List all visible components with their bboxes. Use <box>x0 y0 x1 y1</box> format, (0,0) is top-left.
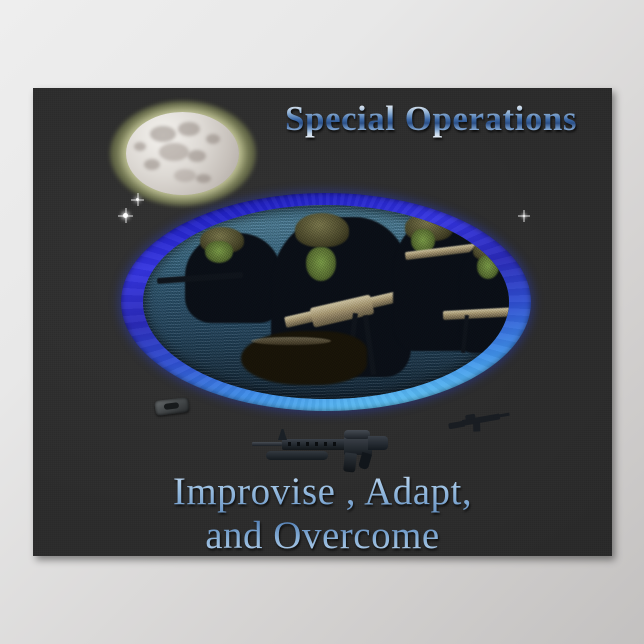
poster-artwork-panel: Special Operations <box>33 88 612 556</box>
special-forces-water-insertion-photo <box>143 205 509 399</box>
moon-disc <box>126 112 239 195</box>
assault-rifle-with-grenade-launcher <box>252 423 386 473</box>
poster-slogan: Improvise , Adapt, and Overcome <box>33 470 612 556</box>
moon-crater <box>206 134 220 144</box>
slogan-line-2: and Overcome <box>33 514 612 556</box>
assault-rifle-silhouette <box>446 403 511 437</box>
page-title: Special Operations <box>281 101 581 138</box>
moon-crater <box>134 142 146 151</box>
rifle-front-sight <box>278 429 287 440</box>
rifle-magazine <box>154 397 190 416</box>
slogan-line-1: Improvise , Adapt, <box>33 470 612 514</box>
rifle-magazine-slot <box>164 402 180 410</box>
rifle-barrel <box>252 442 282 446</box>
star-bright-lower-icon <box>123 213 128 218</box>
photo-grain <box>143 205 509 399</box>
rifle-handguard-vents <box>288 442 338 446</box>
poster-page: Special Operations <box>0 0 644 644</box>
moon-crater <box>144 159 160 170</box>
oval-photo-frame <box>121 193 531 411</box>
rifle-stock <box>368 436 388 450</box>
grenade-launcher-tube <box>266 451 328 460</box>
rifle-carry-handle <box>344 430 370 439</box>
star-right-icon <box>523 215 525 217</box>
star-small-upper-icon <box>136 198 139 201</box>
moon-crater <box>150 126 176 142</box>
moon-crater <box>159 143 189 161</box>
rifle-stock <box>448 421 465 430</box>
moon-crater <box>174 169 196 182</box>
moon-crater <box>188 150 206 162</box>
moon <box>110 101 256 206</box>
moon-crater <box>178 122 200 136</box>
rifle-magazine <box>473 422 480 431</box>
moon-crater <box>196 174 211 183</box>
